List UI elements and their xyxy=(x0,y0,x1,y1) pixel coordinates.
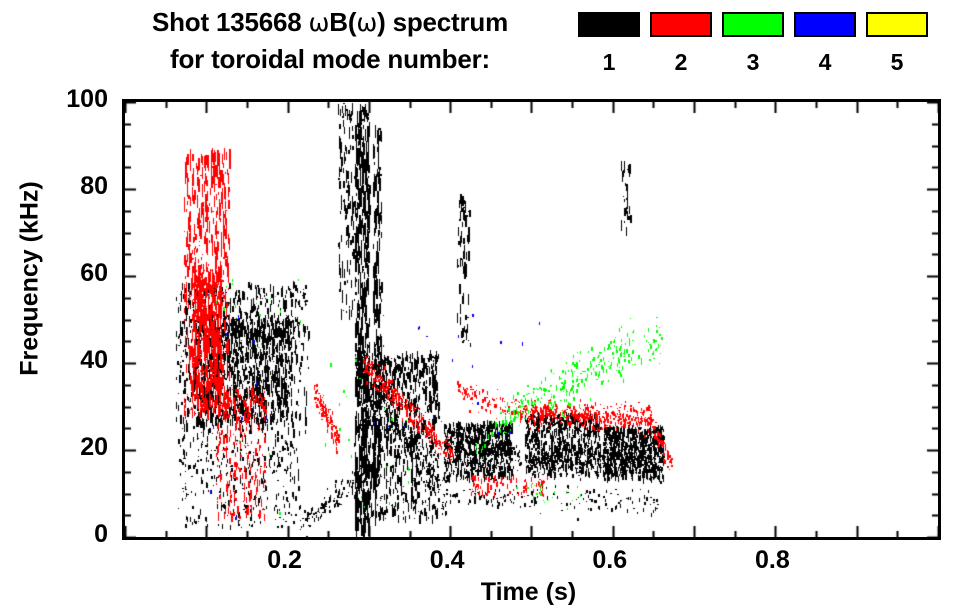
x-axis-tick-labels: 0.20.40.60.8 xyxy=(0,0,963,615)
spectrogram-figure: Shot 135668 ωB(ω) spectrum for toroidal … xyxy=(0,0,963,615)
x-tick-label-0.6: 0.6 xyxy=(570,548,650,573)
x-axis-label: Time (s) xyxy=(122,578,935,607)
y-axis-label: Frequency (kHz) xyxy=(16,99,45,459)
x-tick-label-0.2: 0.2 xyxy=(245,548,325,573)
x-tick-label-0.8: 0.8 xyxy=(732,548,812,573)
x-tick-label-0.4: 0.4 xyxy=(407,548,487,573)
